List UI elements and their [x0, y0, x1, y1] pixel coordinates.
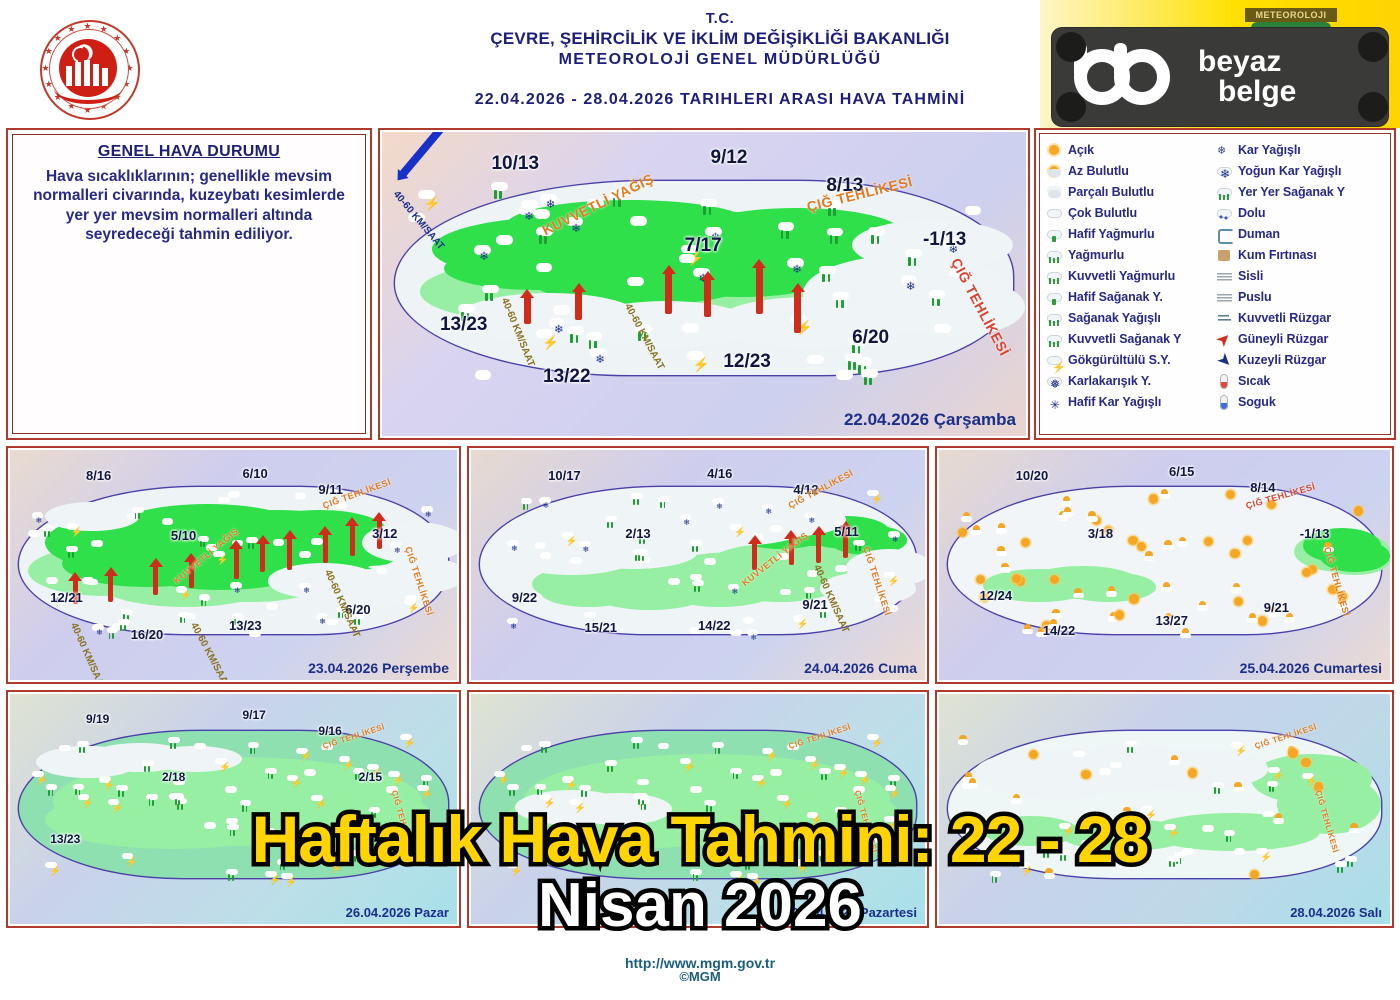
- map-weather-symbol-cloud: [668, 576, 681, 587]
- map-weather-symbol-storm: ⚡: [680, 758, 693, 769]
- map-weather-symbol-rain: [118, 619, 131, 630]
- map-weather-symbol-rain: [636, 793, 649, 804]
- map-weather-symbol-rain: [1058, 849, 1071, 860]
- map-weather-symbol-rain: [631, 493, 644, 504]
- map-date-label: 22.04.2026 Çarşamba: [844, 410, 1016, 430]
- map-weather-symbol-cloud: [570, 555, 583, 566]
- map-weather-symbol-cloud: [682, 320, 701, 336]
- map-weather-symbol-sun: [1204, 537, 1217, 548]
- map-canvas: ❄❄❄❄⚡❄❄❄❄❄⚡⚡⚡❄❄❄⚡10/174/164/122/135/119/…: [471, 450, 925, 680]
- forecast-map-thursday[interactable]: ❄⚡⚡❄❄❄❄❄⚡❄❄⚡8/166/109/115/103/1212/2116/…: [6, 446, 461, 684]
- map-weather-symbol-suncloud: [1169, 755, 1182, 766]
- map-weather-symbol-cloud: [266, 601, 279, 612]
- map-weather-symbol-cloud: [295, 490, 308, 501]
- legend-item-light-rain: Hafif Yağmurlu: [1046, 224, 1216, 244]
- legend-item-label: Hafif Kar Yağışlı: [1068, 395, 1161, 409]
- map-weather-symbol-rain: [265, 768, 278, 779]
- watermark-line1: beyaz: [1198, 47, 1296, 77]
- map-weather-symbol-storm: ⚡: [834, 764, 847, 775]
- map-weather-symbol-rain: [66, 546, 79, 557]
- wind-arrow-icon: [816, 533, 821, 563]
- map-weather-symbol-storm: ⚡: [1141, 806, 1154, 817]
- map-weather-symbol-storm: ⚡: [570, 799, 583, 810]
- legend-item-fog: Sisli: [1216, 266, 1386, 286]
- legend-item-heavy-snow: ❄Yoğun Kar Yağışlı: [1216, 161, 1386, 181]
- map-weather-symbol-rain: [1267, 781, 1280, 792]
- map-temperature-label: 13/23: [229, 618, 262, 633]
- map-weather-symbol-snow: ❄: [901, 275, 920, 291]
- map-weather-symbol-rain: [819, 768, 832, 779]
- map-weather-symbol-cloud: [59, 742, 72, 753]
- map-weather-symbol-cloud: [553, 302, 572, 318]
- legend-item-cloud: Çok Bulutlu: [1046, 203, 1216, 223]
- legend-item-label: Kuvvetli Yağmurlu: [1068, 269, 1175, 283]
- map-weather-symbol-storm: ⚡: [793, 615, 806, 626]
- map-weather-symbol-cloud: [730, 627, 743, 638]
- light-shower-icon: [1046, 290, 1063, 305]
- map-weather-symbol-cloud: [1000, 841, 1013, 852]
- map-weather-symbol-snow: ❄: [728, 584, 741, 595]
- heavy-rain-icon: [1046, 269, 1063, 284]
- map-weather-symbol-snow: ❄: [32, 512, 45, 523]
- map-weather-symbol-storm: ⚡: [388, 771, 401, 782]
- map-weather-symbol-cloud: [630, 213, 649, 229]
- legend-item-partly-cloud: Parçalı Bulutlu: [1046, 182, 1216, 202]
- legend-item-label: Yoğun Kar Yağışlı: [1238, 164, 1341, 178]
- map-weather-symbol-sun: [1081, 770, 1094, 781]
- map-weather-symbol-storm: ⚡: [263, 828, 276, 839]
- map-temperature-label: 12/23: [723, 351, 771, 373]
- map-weather-symbol-storm: ⚡: [416, 816, 429, 827]
- map-weather-symbol-snow: ❄: [787, 258, 806, 274]
- map-temperature-label: 12/21: [50, 590, 83, 605]
- map-weather-symbol-storm: ⚡: [730, 524, 743, 535]
- map-weather-symbol-storm: ⚡: [855, 771, 868, 782]
- beyazbelge-watermark-logo: beyaz belge: [1052, 28, 1388, 126]
- map-canvas: ❄❄⚡❄❄❄❄⚡❄⚡⚡❄❄❄❄⚡10/139/128/13-1/137/1713…: [382, 132, 1026, 436]
- map-weather-symbol-cloud: [225, 784, 238, 795]
- map-weather-symbol-rain: [277, 859, 290, 870]
- map-weather-symbol-cloud: [835, 563, 848, 574]
- legend-item-thermometer-cold: Soguk: [1216, 392, 1386, 412]
- legend-item-thermometer-hot: Sıcak: [1216, 371, 1386, 391]
- map-weather-symbol-rain: [819, 266, 838, 282]
- map-weather-symbol-storm: ⚡: [687, 351, 706, 367]
- map-weather-symbol-storm: ⚡: [418, 190, 437, 206]
- legend-item-rain: Yağmurlu: [1046, 245, 1216, 265]
- map-date-label: 28.04.2026 Salı: [1290, 905, 1382, 920]
- map-weather-symbol-suncloud: [1273, 813, 1286, 824]
- map-weather-symbol-sun: [1012, 574, 1025, 585]
- legend-item-north-wind-arrow: ➤Kuzeyli Rüzgar: [1216, 350, 1386, 370]
- legend-item-label: Kuvvetli Sağanak Y: [1068, 332, 1181, 346]
- map-weather-symbol-sun: [1115, 610, 1128, 621]
- legend-item-heavy-rain: Kuvvetli Yağmurlu: [1046, 266, 1216, 286]
- map-weather-symbol-storm: ⚡: [789, 827, 802, 838]
- legend-item-light-shower: Hafif Sağanak Y.: [1046, 287, 1216, 307]
- map-weather-symbol-cloud: [1110, 759, 1123, 770]
- map-weather-symbol-storm: ⚡: [417, 785, 430, 796]
- page-title: T.C. ÇEVRE, ŞEHİRCİLİK VE İKLİM DEĞİŞİKL…: [420, 10, 1020, 109]
- map-weather-symbol-cloud: [299, 549, 312, 560]
- map-weather-symbol-sun: [1250, 870, 1263, 881]
- map-weather-symbol-sun: [1301, 758, 1314, 769]
- map-temperature-label: 4/16: [707, 466, 732, 481]
- legend-item-sun-cloud: Az Bulutlu: [1046, 161, 1216, 181]
- map-weather-symbol-rain: [168, 737, 181, 748]
- legend-item-label: Soguk: [1238, 395, 1276, 409]
- map-weather-symbol-storm: ⚡: [1018, 862, 1031, 873]
- map-weather-symbol-storm: ⚡: [339, 756, 352, 767]
- map-temperature-label: 2/13: [625, 526, 650, 541]
- map-weather-symbol-rain: [199, 594, 212, 605]
- map-weather-symbol-storm: ⚡: [78, 794, 91, 805]
- forecast-map-tuesday[interactable]: ⚡⚡⚡⚡⚡⚡⚡⚡⚡⚡ÇIĞ TEHLİKESİÇIĞ TEHLİKESİ28.0…: [935, 690, 1394, 928]
- map-weather-symbol-suncloud: [1161, 582, 1174, 593]
- map-weather-symbol-suncloud: [1247, 613, 1260, 624]
- legend-item-smoke: Duman: [1216, 224, 1386, 244]
- map-weather-symbol-rain: [1041, 846, 1054, 857]
- legend-column-right: ❄Kar Yağışlı❄Yoğun Kar YağışlıYer Yer Sa…: [1216, 140, 1386, 430]
- map-temperature-label: 9/22: [512, 590, 537, 605]
- legend-item-haze: Puslu: [1216, 287, 1386, 307]
- legend-item-label: Hafif Sağanak Y.: [1068, 290, 1163, 304]
- map-weather-symbol-rain: [818, 850, 831, 861]
- map-date-label: 23.04.2026 Perşembe: [308, 660, 449, 676]
- map-weather-symbol-cloud: [1073, 748, 1086, 759]
- map-weather-symbol-cloud: [780, 586, 793, 597]
- thermometer-cold-icon: [1216, 395, 1233, 410]
- general-weather-panel: GENEL HAVA DURUMU Hava sıcaklıklarının; …: [6, 128, 372, 440]
- partly-cloud-icon: [1046, 185, 1063, 200]
- wind-arrow-icon: [108, 574, 113, 602]
- map-weather-symbol-sun: [976, 575, 989, 586]
- map-weather-symbol-sun: [1021, 538, 1034, 549]
- map-weather-symbol-rain: [658, 496, 671, 507]
- sun-cloud-icon: [1046, 164, 1063, 179]
- map-weather-symbol-snow: ❄: [299, 583, 312, 594]
- thunderstorm-icon: ⚡: [1046, 353, 1063, 368]
- map-weather-symbol-storm: ⚡: [885, 785, 898, 796]
- map-weather-symbol-cloud: [690, 784, 703, 795]
- map-weather-symbol-snow: ❄: [421, 506, 434, 517]
- wind-arrow-icon: [350, 524, 355, 556]
- map-weather-symbol-snow: ❄: [474, 245, 493, 261]
- map-weather-symbol-storm: ⚡: [340, 812, 353, 823]
- legend-item-label: Kar Yağışlı: [1238, 143, 1301, 157]
- legend-item-thunderstorm: ⚡Gökgürültülü S.Y.: [1046, 350, 1216, 370]
- map-weather-symbol-rain: [1212, 782, 1225, 793]
- map-weather-symbol-rain: [704, 800, 717, 811]
- map-weather-symbol-suncloud: [1106, 586, 1119, 597]
- map-date-label: 24.04.2026 Cuma: [804, 660, 917, 676]
- map-temperature-label: 10/13: [491, 153, 539, 175]
- map-weather-symbol-cloud: [770, 523, 783, 534]
- map-weather-symbol-snow: ❄: [747, 629, 760, 640]
- map-weather-symbol-suncloud: [1349, 823, 1362, 834]
- map-weather-symbol-rain: [77, 741, 90, 752]
- map-weather-symbol-storm: ⚡: [1268, 767, 1281, 778]
- map-weather-symbol-rain: [835, 807, 848, 818]
- map-weather-symbol-storm: ⚡: [287, 775, 300, 786]
- map-temperature-label: 10/20: [1016, 468, 1049, 483]
- map-weather-symbol-snow: ❄: [316, 613, 329, 624]
- legend-item-label: Sıcak: [1238, 374, 1270, 388]
- map-weather-symbol-suncloud: [1011, 794, 1024, 805]
- map-weather-symbol-storm: ⚡: [1130, 846, 1143, 857]
- map-canvas: 10/206/158/143/18-1/1312/2414/2213/279/2…: [939, 450, 1390, 680]
- map-temperature-label: 12/24: [980, 588, 1013, 603]
- map-weather-symbol-suncloud: [967, 778, 980, 789]
- title-line-ministry: ÇEVRE, ŞEHİRCİLİK VE İKLİM DEĞİŞİKLİĞİ B…: [420, 29, 1020, 49]
- map-weather-symbol-cloud: [91, 538, 104, 549]
- map-weather-symbol-rain: [240, 800, 253, 811]
- map-weather-symbol-rain: [845, 353, 864, 369]
- map-weather-symbol-cloud: [218, 494, 231, 505]
- map-weather-symbol-rain: [1081, 840, 1094, 851]
- map-weather-symbol-snow: ❄: [390, 542, 403, 553]
- map-weather-symbol-rain: [712, 742, 725, 753]
- map-weather-symbol-storm: ⚡: [1164, 824, 1177, 835]
- north-wind-arrow-icon: ➤: [1216, 353, 1233, 368]
- map-weather-symbol-suncloud: [996, 546, 1009, 557]
- map-canvas: ⚡⚡⚡⚡⚡⚡⚡⚡⚡⚡⚡⚡⚡⚡⚡⚡⚡⚡⚡⚡⚡⚡⚡⚡⚡9/199/179/162/1…: [10, 694, 457, 924]
- map-weather-symbol-rain: [491, 182, 510, 198]
- map-weather-symbol-rain: [743, 859, 756, 870]
- legend-item-snow: ❄Kar Yağışlı: [1216, 140, 1386, 160]
- map-weather-symbol-cloud: [668, 820, 681, 831]
- map-weather-symbol-snow: ❄: [230, 582, 243, 593]
- wind-arrow-icon: [260, 542, 265, 572]
- map-weather-symbol-snow: ❄: [507, 540, 520, 551]
- wind-arrow-icon: [153, 565, 158, 595]
- wind-arrow-icon: [794, 290, 801, 333]
- map-temperature-label: 16/20: [131, 627, 164, 642]
- legend-item-label: Kum Fırtınası: [1238, 248, 1317, 262]
- map-weather-symbol-cloud: [535, 540, 548, 551]
- map-weather-symbol-snow: ❄: [92, 624, 105, 635]
- map-weather-symbol-storm: ⚡: [752, 775, 765, 786]
- mgm-copyright: ©MGM: [0, 969, 1400, 984]
- forecast-map-wednesday[interactable]: ❄❄⚡❄❄❄❄⚡❄⚡⚡❄❄❄❄⚡10/139/128/13-1/137/1713…: [378, 128, 1030, 440]
- legend-item-label: Sağanak Yağışlı: [1068, 311, 1161, 325]
- map-weather-symbol-storm: ⚡: [777, 795, 790, 806]
- map-weather-symbol-storm: ⚡: [884, 572, 897, 583]
- map-weather-symbol-suncloud: [958, 735, 971, 746]
- map-weather-symbol-sun: [958, 528, 971, 539]
- legend-item-label: Yer Yer Sağanak Y: [1238, 185, 1345, 199]
- map-weather-symbol-rain: [579, 785, 592, 796]
- map-weather-symbol-storm: ⚡: [970, 823, 983, 834]
- map-weather-symbol-suncloud: [1180, 628, 1193, 639]
- map-weather-symbol-suncloud: [1122, 807, 1135, 818]
- map-temperature-label: 9/12: [710, 147, 747, 169]
- thermometer-hot-icon: [1216, 374, 1233, 389]
- map-weather-symbol-cloud: [704, 556, 717, 567]
- map-weather-symbol-snow: ❄: [539, 497, 552, 508]
- map-weather-symbol-rain: [636, 549, 649, 560]
- map-weather-symbol-storm: ⚡: [805, 756, 818, 767]
- map-weather-symbol-cloud: [536, 260, 555, 276]
- map-weather-symbol-rain: [605, 760, 618, 771]
- map-temperature-label: 9/17: [242, 708, 265, 722]
- map-canvas: ⚡⚡⚡⚡⚡⚡⚡⚡⚡⚡⚡⚡⚡⚡⚡⚡⚡⚡⚡⚡⚡⚡⚡⚡⚡ÇIĞ TEHLİKESİÇI…: [471, 694, 925, 924]
- legend-item-shower: Sağanak Yağışlı: [1046, 308, 1216, 328]
- map-temperature-label: 9/19: [86, 712, 109, 726]
- map-weather-symbol-rain: [833, 292, 852, 308]
- map-temperature-label: -1/13: [1300, 526, 1330, 541]
- forecast-map-saturday[interactable]: 10/206/158/143/18-1/1312/2414/2213/279/2…: [935, 446, 1394, 684]
- map-weather-symbol-cloud: [743, 615, 756, 626]
- map-weather-symbol-cloud: [204, 820, 217, 831]
- wind-arrow-icon: [704, 278, 711, 318]
- map-weather-symbol-storm: ⚡: [807, 812, 820, 823]
- map-weather-symbol-cloud: [637, 776, 650, 787]
- map-temperature-label: -1/13: [923, 229, 966, 251]
- map-weather-symbol-storm: ⚡: [540, 794, 553, 805]
- map-weather-symbol-suncloud: [961, 512, 974, 523]
- cloud-icon: [1046, 206, 1063, 221]
- map-weather-symbol-rain: [535, 784, 548, 795]
- map-weather-symbol-cloud: [521, 742, 534, 753]
- map-weather-symbol-snow: ❄: [507, 618, 520, 629]
- map-temperature-label: 6/10: [242, 466, 267, 481]
- wind-arrow-icon: [287, 537, 292, 569]
- map-weather-symbol-rain: [690, 869, 703, 880]
- map-weather-symbol-rain: [521, 498, 534, 509]
- wind-arrow-icon: [575, 290, 582, 320]
- map-date-label: 26.04.2026 Pazar: [346, 905, 449, 920]
- legend-item-label: Açık: [1068, 143, 1094, 157]
- hail-icon: [1216, 206, 1233, 221]
- light-snow-icon: ✳: [1046, 395, 1063, 410]
- map-temperature-label: 5/10: [171, 528, 196, 543]
- map-weather-symbol-rain: [631, 737, 644, 748]
- legend-item-label: Puslu: [1238, 290, 1272, 304]
- map-temperature-label: 6/15: [1169, 464, 1194, 479]
- forecast-map-monday[interactable]: ⚡⚡⚡⚡⚡⚡⚡⚡⚡⚡⚡⚡⚡⚡⚡⚡⚡⚡⚡⚡⚡⚡⚡⚡⚡ÇIĞ TEHLİKESİÇI…: [467, 690, 929, 928]
- map-weather-symbol-suncloud: [1022, 624, 1035, 635]
- legend-item-label: Sisli: [1238, 269, 1263, 283]
- map-temperature-label: 13/22: [543, 366, 591, 388]
- map-temperature-label: 14/22: [698, 618, 731, 633]
- map-weather-symbol-rain: [605, 516, 618, 527]
- legend-item-label: Kuvvetli Rüzgar: [1238, 311, 1331, 325]
- meteoroloji-badge-caption: METEOROLOJI: [1245, 8, 1337, 22]
- map-weather-symbol-rain: [730, 768, 743, 779]
- map-weather-symbol-cloud: [496, 232, 515, 248]
- map-weather-symbol-cloud: [627, 274, 646, 290]
- smoke-icon: [1216, 227, 1233, 242]
- map-weather-symbol-suncloud: [1163, 540, 1176, 551]
- map-temperature-label: 2/18: [162, 770, 185, 784]
- map-weather-symbol-storm: ⚡: [1059, 823, 1072, 834]
- map-weather-symbol-sun: [1354, 506, 1367, 517]
- map-weather-symbol-rain: [482, 285, 501, 301]
- legend-item-label: Hafif Yağmurlu: [1068, 227, 1155, 241]
- map-weather-symbol-storm: ⚡: [323, 827, 336, 838]
- legend-item-label: Dolu: [1238, 206, 1265, 220]
- map-weather-symbol-cloud: [405, 592, 418, 603]
- map-weather-symbol-storm: ⚡: [730, 871, 743, 882]
- map-weather-symbol-suncloud: [1062, 507, 1075, 518]
- map-weather-symbol-storm: ⚡: [215, 758, 228, 769]
- map-weather-symbol-suncloud: [1233, 782, 1246, 793]
- map-weather-symbol-rain: [73, 784, 86, 795]
- map-weather-symbol-storm: ⚡: [1256, 848, 1269, 859]
- map-weather-symbol-cloud: [1202, 822, 1215, 833]
- map-weather-symbol-rain: [173, 793, 186, 804]
- map-weather-symbol-rain: [990, 871, 1003, 882]
- map-weather-symbol-rain: [905, 249, 924, 265]
- map-weather-symbol-cloud: [28, 528, 41, 539]
- map-weather-symbol-storm: ⚡: [122, 853, 135, 864]
- map-weather-symbol-storm: ⚡: [281, 873, 294, 884]
- map-weather-symbol-sun: [1129, 594, 1142, 605]
- turkey-landmass: [948, 487, 1381, 634]
- map-weather-symbol-storm: ⚡: [747, 873, 760, 884]
- haze-icon: [1216, 290, 1233, 305]
- forecast-map-sunday[interactable]: ⚡⚡⚡⚡⚡⚡⚡⚡⚡⚡⚡⚡⚡⚡⚡⚡⚡⚡⚡⚡⚡⚡⚡⚡⚡9/199/179/162/1…: [6, 690, 461, 928]
- map-weather-symbol-cloud: [658, 740, 671, 751]
- rain-icon: [1046, 248, 1063, 263]
- map-weather-symbol-cloud: [475, 367, 494, 383]
- legend-item-label: Yağmurlu: [1068, 248, 1124, 262]
- map-canvas: ⚡⚡⚡⚡⚡⚡⚡⚡⚡⚡ÇIĞ TEHLİKESİÇIĞ TEHLİKESİ28.0…: [939, 694, 1390, 924]
- map-temperature-label: 13/27: [1155, 613, 1188, 628]
- sleet-icon: ❅: [1046, 374, 1063, 389]
- map-weather-symbol-storm: ⚡: [494, 771, 507, 782]
- map-date-label: 25.04.2026 Cumartesi: [1240, 660, 1382, 676]
- map-weather-symbol-rain: [116, 785, 129, 796]
- map-weather-symbol-snow: ❄: [888, 531, 901, 542]
- map-canvas: ❄⚡⚡❄❄❄❄❄⚡❄❄⚡8/166/109/115/103/1212/2116/…: [10, 450, 457, 680]
- map-weather-symbol-sun: [1230, 549, 1243, 560]
- scattered-shower-icon: [1216, 185, 1233, 200]
- map-weather-symbol-rain: [586, 332, 605, 348]
- map-weather-symbol-sun: [1136, 820, 1149, 831]
- title-line-directorate: METEOROLOJİ GENEL MÜDÜRLÜĞÜ: [420, 51, 1020, 69]
- map-weather-symbol-cloud: [86, 576, 99, 587]
- legend-item-scattered-shower: Yer Yer Sağanak Y: [1216, 182, 1386, 202]
- legend-item-strong-wind: Kuvvetli Rüzgar: [1216, 308, 1386, 328]
- legend-item-label: Duman: [1238, 227, 1280, 241]
- wind-arrow-icon: [234, 547, 239, 579]
- legend-item-label: Kuzeyli Rüzgar: [1238, 353, 1326, 367]
- wind-arrow-icon: [524, 296, 531, 323]
- map-temperature-label: 13/23: [440, 314, 488, 336]
- map-weather-symbol-rain: [700, 199, 719, 215]
- map-weather-symbol-rain: [142, 760, 155, 771]
- map-weather-symbol-suncloud: [1073, 588, 1086, 599]
- general-weather-text: Hava sıcaklıklarının; genellikle mevsim …: [23, 167, 355, 245]
- map-weather-symbol-storm: ⚡: [176, 586, 189, 597]
- wind-arrow-icon: [665, 272, 672, 315]
- map-weather-symbol-suncloud: [1231, 583, 1244, 594]
- legend-item-sun: Açık: [1046, 140, 1216, 160]
- general-weather-title: GENEL HAVA DURUMU: [23, 143, 355, 161]
- map-weather-symbol-cloud: [162, 516, 175, 527]
- forecast-map-friday[interactable]: ❄❄❄❄⚡❄❄❄❄❄⚡⚡⚡❄❄❄⚡10/174/164/122/135/119/…: [467, 446, 929, 684]
- legend-item-label: Güneyli Rüzgar: [1238, 332, 1328, 346]
- map-temperature-label: 3/18: [1088, 526, 1113, 541]
- title-line-daterange: 22.04.2026 - 28.04.2026 TARIHLERI ARASI …: [420, 91, 1020, 109]
- map-weather-symbol-sun: [1234, 597, 1247, 608]
- map-weather-symbol-cloud: [184, 610, 197, 621]
- map-weather-symbol-storm: ⚡: [311, 795, 324, 806]
- map-temperature-label: 9/21: [802, 597, 827, 612]
- wind-arrow-icon: [756, 266, 763, 315]
